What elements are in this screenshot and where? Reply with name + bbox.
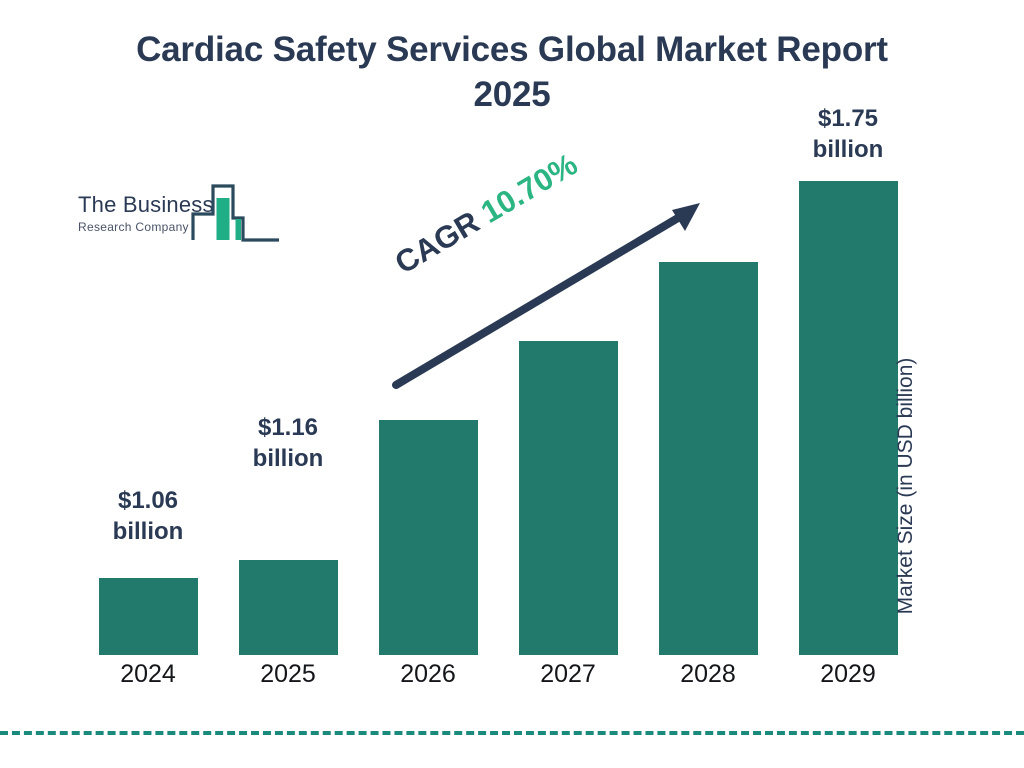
- bar-value-label-2024: $1.06 billion: [78, 485, 218, 547]
- bar-2026: [379, 420, 478, 655]
- x-tick-2026: 2026: [358, 660, 498, 689]
- bar-2025: [239, 560, 338, 655]
- x-tick-2028: 2028: [638, 660, 778, 689]
- x-tick-2029: 2029: [778, 660, 918, 689]
- bar-value-label-2029: $1.75 billion: [778, 103, 918, 165]
- bar-2029: [799, 181, 898, 655]
- chart-canvas: Cardiac Safety Services Global Market Re…: [0, 0, 1024, 768]
- x-tick-2024: 2024: [78, 660, 218, 689]
- growth-arrow-icon: [380, 190, 720, 400]
- bar-2024: [99, 578, 198, 655]
- bar-value-label-2025: $1.16 billion: [218, 412, 358, 474]
- x-tick-2025: 2025: [218, 660, 358, 689]
- bar-value-amount-2024: $1.06 billion: [78, 485, 218, 547]
- y-axis-title: Market Size (in USD billion): [894, 316, 918, 656]
- bar-value-amount-2029: $1.75 billion: [778, 103, 918, 165]
- x-tick-2027: 2027: [498, 660, 638, 689]
- bar-value-amount-2025: $1.16 billion: [218, 412, 358, 474]
- footer-divider: [0, 731, 1024, 735]
- bar-chart-plot: $1.06 billion $1.16 billion $1.75 billio…: [0, 0, 1024, 768]
